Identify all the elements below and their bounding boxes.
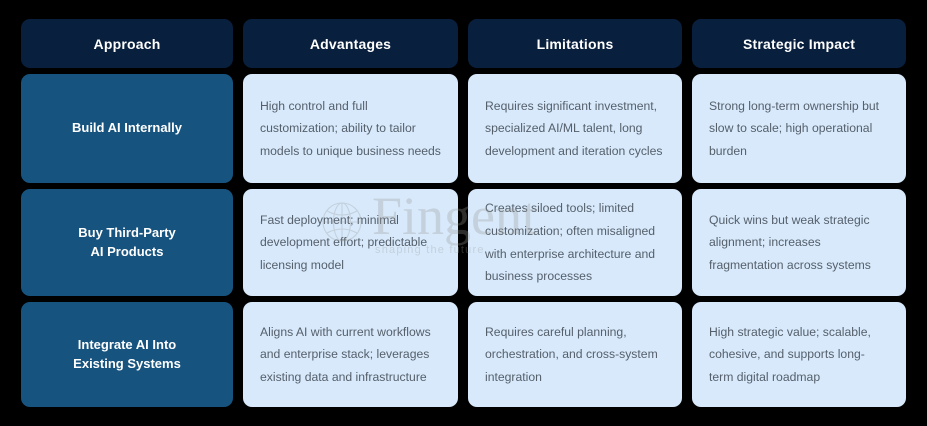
cell-text: Requires careful planning, orchestration… — [485, 321, 665, 389]
cell-text: High control and full customization; abi… — [260, 95, 441, 163]
table-cell-strategic-impact-row1: Strong long-term ownership but slow to s… — [692, 74, 906, 183]
table-cell-advantages-row2: Fast deployment; minimal development eff… — [243, 189, 458, 296]
column-header-label: Limitations — [537, 36, 614, 52]
table-cell-strategic-impact-row2: Quick wins but weak strategic alignment;… — [692, 189, 906, 296]
cell-text: High strategic value; scalable, cohesive… — [709, 321, 889, 389]
row-label-text: Build AI Internally — [72, 119, 182, 137]
column-header-label: Advantages — [310, 36, 391, 52]
table-cell-advantages-row1: High control and full customization; abi… — [243, 74, 458, 183]
column-header-approach: Approach — [21, 19, 233, 68]
table-cell-limitations-row1: Requires significant investment, special… — [468, 74, 682, 183]
cell-text: Strong long-term ownership but slow to s… — [709, 95, 889, 163]
table-row-label-buy-third-party-ai-products: Buy Third-Party AI Products — [21, 189, 233, 296]
column-header-limitations: Limitations — [468, 19, 682, 68]
cell-text: Requires significant investment, special… — [485, 95, 665, 163]
column-header-label: Strategic Impact — [743, 36, 855, 52]
row-label-text: Integrate AI Into Existing Systems — [73, 336, 181, 373]
row-label-text: Buy Third-Party AI Products — [78, 224, 176, 261]
column-header-advantages: Advantages — [243, 19, 458, 68]
table-cell-advantages-row3: Aligns AI with current workflows and ent… — [243, 302, 458, 407]
comparison-table: Fingent shaping the future Approach Adva… — [21, 19, 906, 408]
table-cell-limitations-row2: Creates siloed tools; limited customizat… — [468, 189, 682, 296]
table-row-label-build-ai-internally: Build AI Internally — [21, 74, 233, 183]
column-header-strategic-impact: Strategic Impact — [692, 19, 906, 68]
table-row-label-integrate-ai-into-existing-systems: Integrate AI Into Existing Systems — [21, 302, 233, 407]
cell-text: Creates siloed tools; limited customizat… — [485, 197, 665, 287]
cell-text: Fast deployment; minimal development eff… — [260, 209, 441, 277]
cell-text: Aligns AI with current workflows and ent… — [260, 321, 441, 389]
cell-text: Quick wins but weak strategic alignment;… — [709, 209, 889, 277]
table-cell-limitations-row3: Requires careful planning, orchestration… — [468, 302, 682, 407]
column-header-label: Approach — [94, 36, 161, 52]
table-grid: Approach Advantages Limitations Strategi… — [21, 19, 906, 408]
table-cell-strategic-impact-row3: High strategic value; scalable, cohesive… — [692, 302, 906, 407]
